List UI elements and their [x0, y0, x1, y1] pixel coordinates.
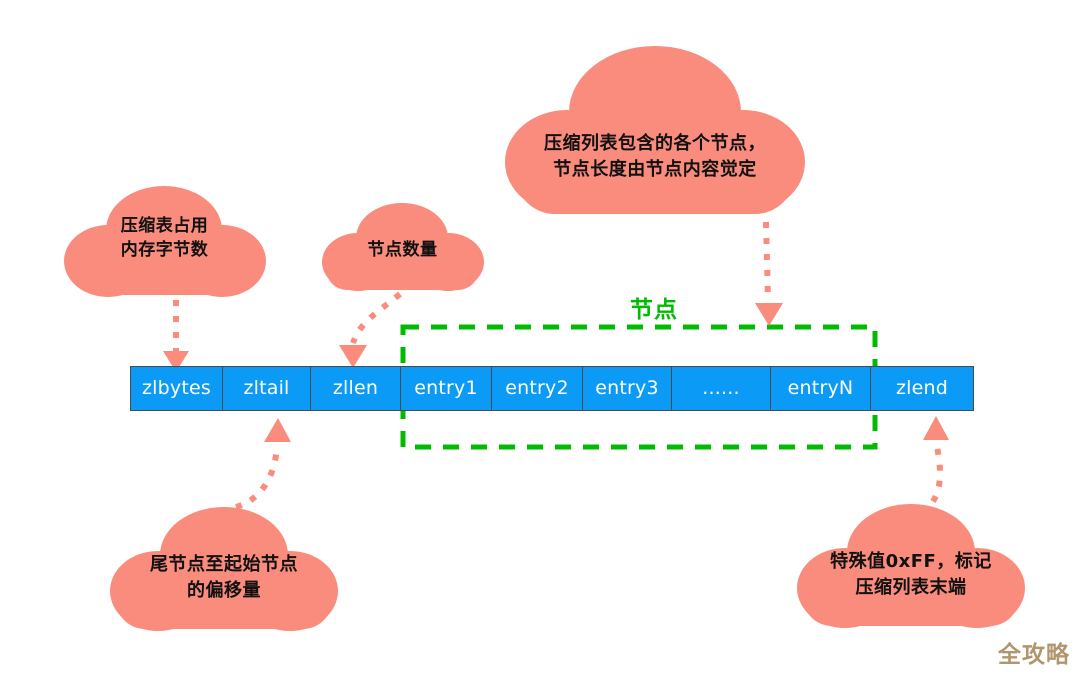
connector-zltail [236, 418, 291, 507]
ziplist-cell-entryn[interactable]: entryN [771, 367, 871, 410]
ziplist-cell-entry2[interactable]: entry2 [492, 367, 583, 410]
cloud-shape-icon [795, 502, 1027, 634]
ziplist-bar: zlbytes zltail zllen entry1 entry2 entry… [130, 366, 974, 411]
connector-zllen [339, 294, 400, 368]
connector-zlend [922, 416, 949, 513]
callout-zllen: 节点数量 [320, 198, 485, 296]
callout-zlend: 特殊值0xFF，标记 压缩列表末端 [795, 502, 1027, 634]
ziplist-cell-ellipsis[interactable]: ...... [672, 367, 771, 410]
ziplist-cell-zlbytes[interactable]: zlbytes [131, 367, 223, 410]
callout-zlbytes: 压缩表占用 内存字节数 [62, 183, 267, 303]
ziplist-cell-entry1[interactable]: entry1 [401, 367, 492, 410]
diagram-canvas: zlbytes zltail zllen entry1 entry2 entry… [0, 0, 1080, 677]
ziplist-cell-zllen[interactable]: zllen [311, 367, 401, 410]
connector-zlbytes [163, 300, 189, 372]
ziplist-cell-zltail[interactable]: zltail [223, 367, 311, 410]
ziplist-cell-entry3[interactable]: entry3 [583, 367, 672, 410]
watermark: 全攻略 [998, 635, 1070, 669]
callout-zltail: 尾节点至起始节点 的偏移量 [108, 505, 340, 637]
callout-entries: 压缩列表包含的各个节点， 节点长度由节点内容觉定 [505, 42, 805, 223]
entries-group-label: 节点 [630, 290, 678, 324]
cloud-shape-icon [505, 42, 805, 223]
connector-entries [755, 222, 783, 326]
ziplist-cell-zlend[interactable]: zlend [871, 367, 973, 410]
cloud-shape-icon [62, 183, 267, 303]
cloud-shape-icon [108, 505, 340, 637]
cloud-shape-icon [320, 198, 485, 296]
